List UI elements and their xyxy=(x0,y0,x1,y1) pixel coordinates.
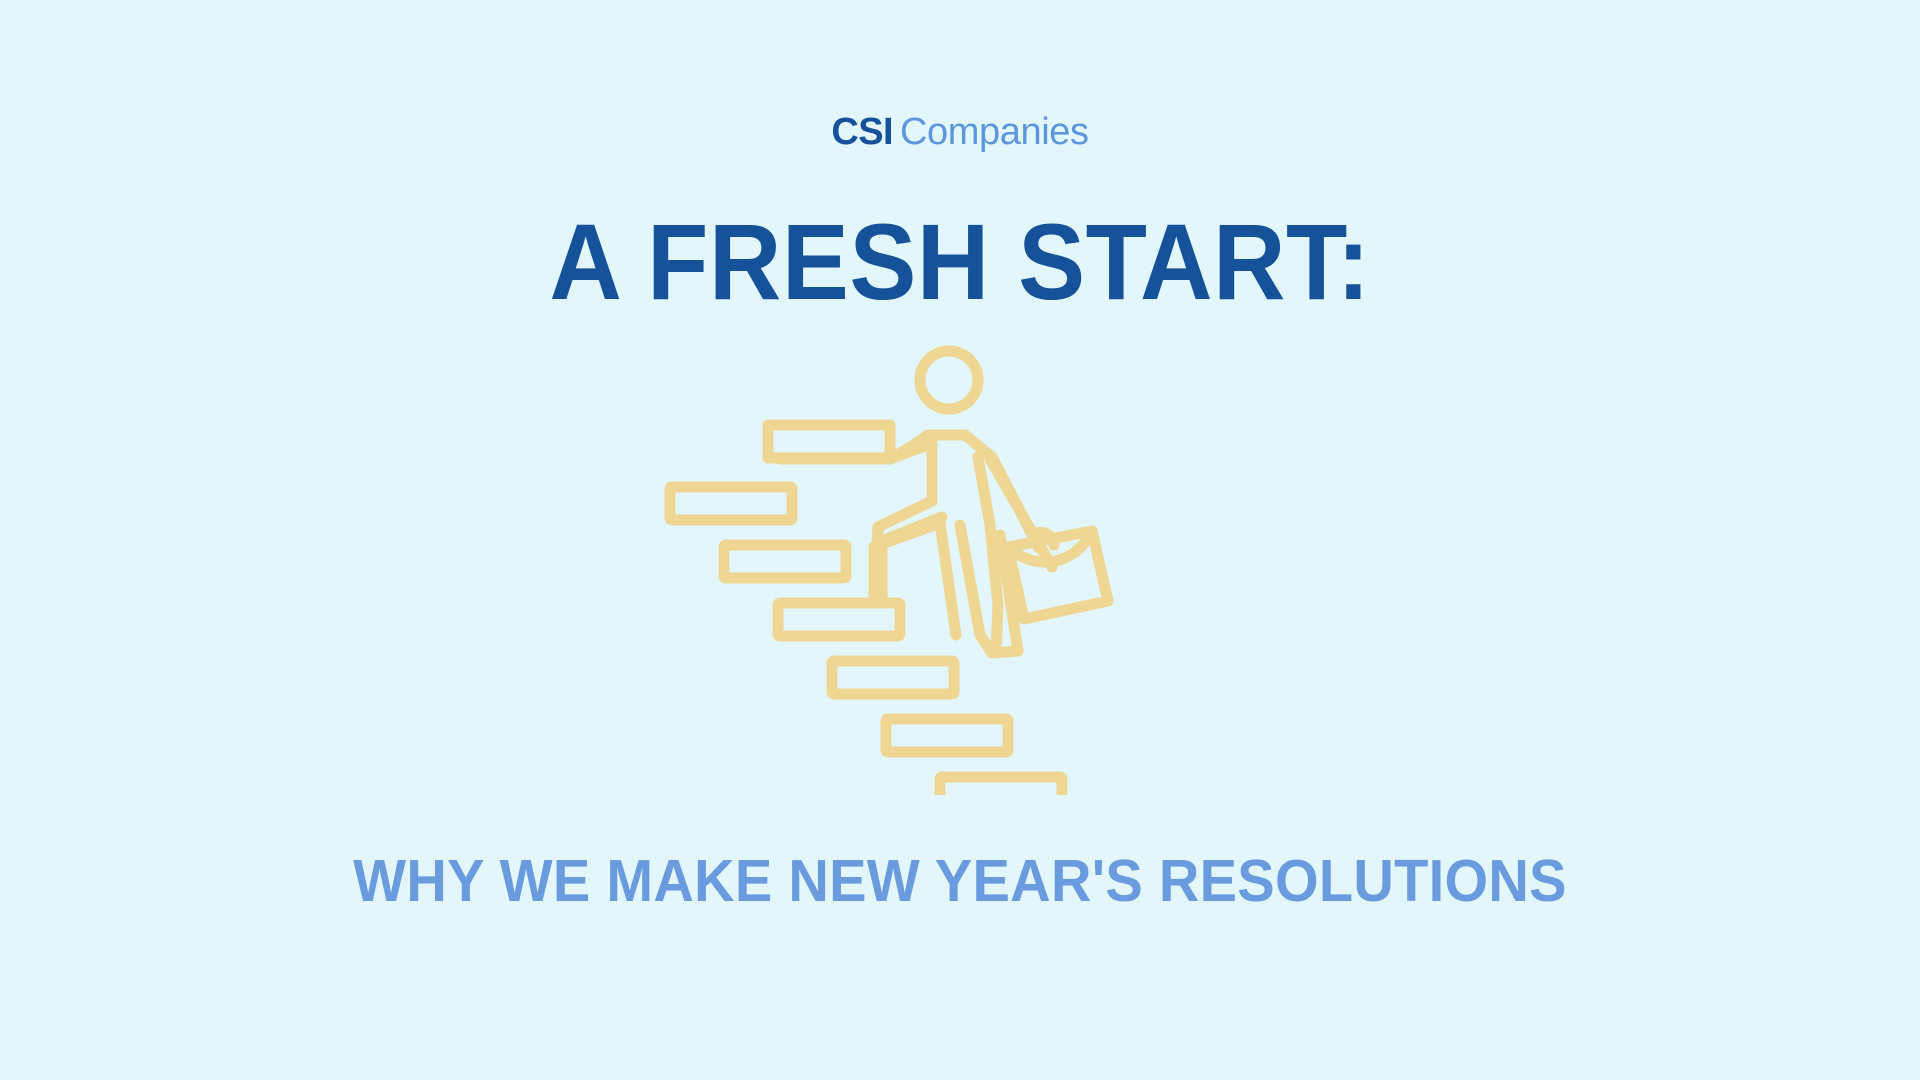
brand-logo: CSICompanies xyxy=(0,113,1920,151)
stair-step xyxy=(778,603,900,636)
figure-head xyxy=(920,351,978,409)
page-title: A FRESH START: xyxy=(67,208,1853,316)
stair-step xyxy=(670,487,792,520)
stair-step xyxy=(940,777,1062,795)
figure-front-arm xyxy=(780,437,928,459)
stair-step xyxy=(832,661,954,694)
stair-step xyxy=(724,545,846,578)
stair-step-upper xyxy=(768,425,890,458)
page-subtitle: WHY WE MAKE NEW YEAR'S RESOLUTIONS xyxy=(48,852,1872,911)
hero-illustration xyxy=(660,335,1140,795)
figure-forearm xyxy=(874,443,942,597)
person-climbing-stairs-with-briefcase-icon xyxy=(660,335,1140,795)
brand-logo-word: Companies xyxy=(900,111,1089,153)
brand-logo-mark: CSI xyxy=(831,111,893,153)
stair-step xyxy=(886,719,1008,752)
slide-canvas: CSICompanies A FRESH START: xyxy=(0,0,1920,1080)
